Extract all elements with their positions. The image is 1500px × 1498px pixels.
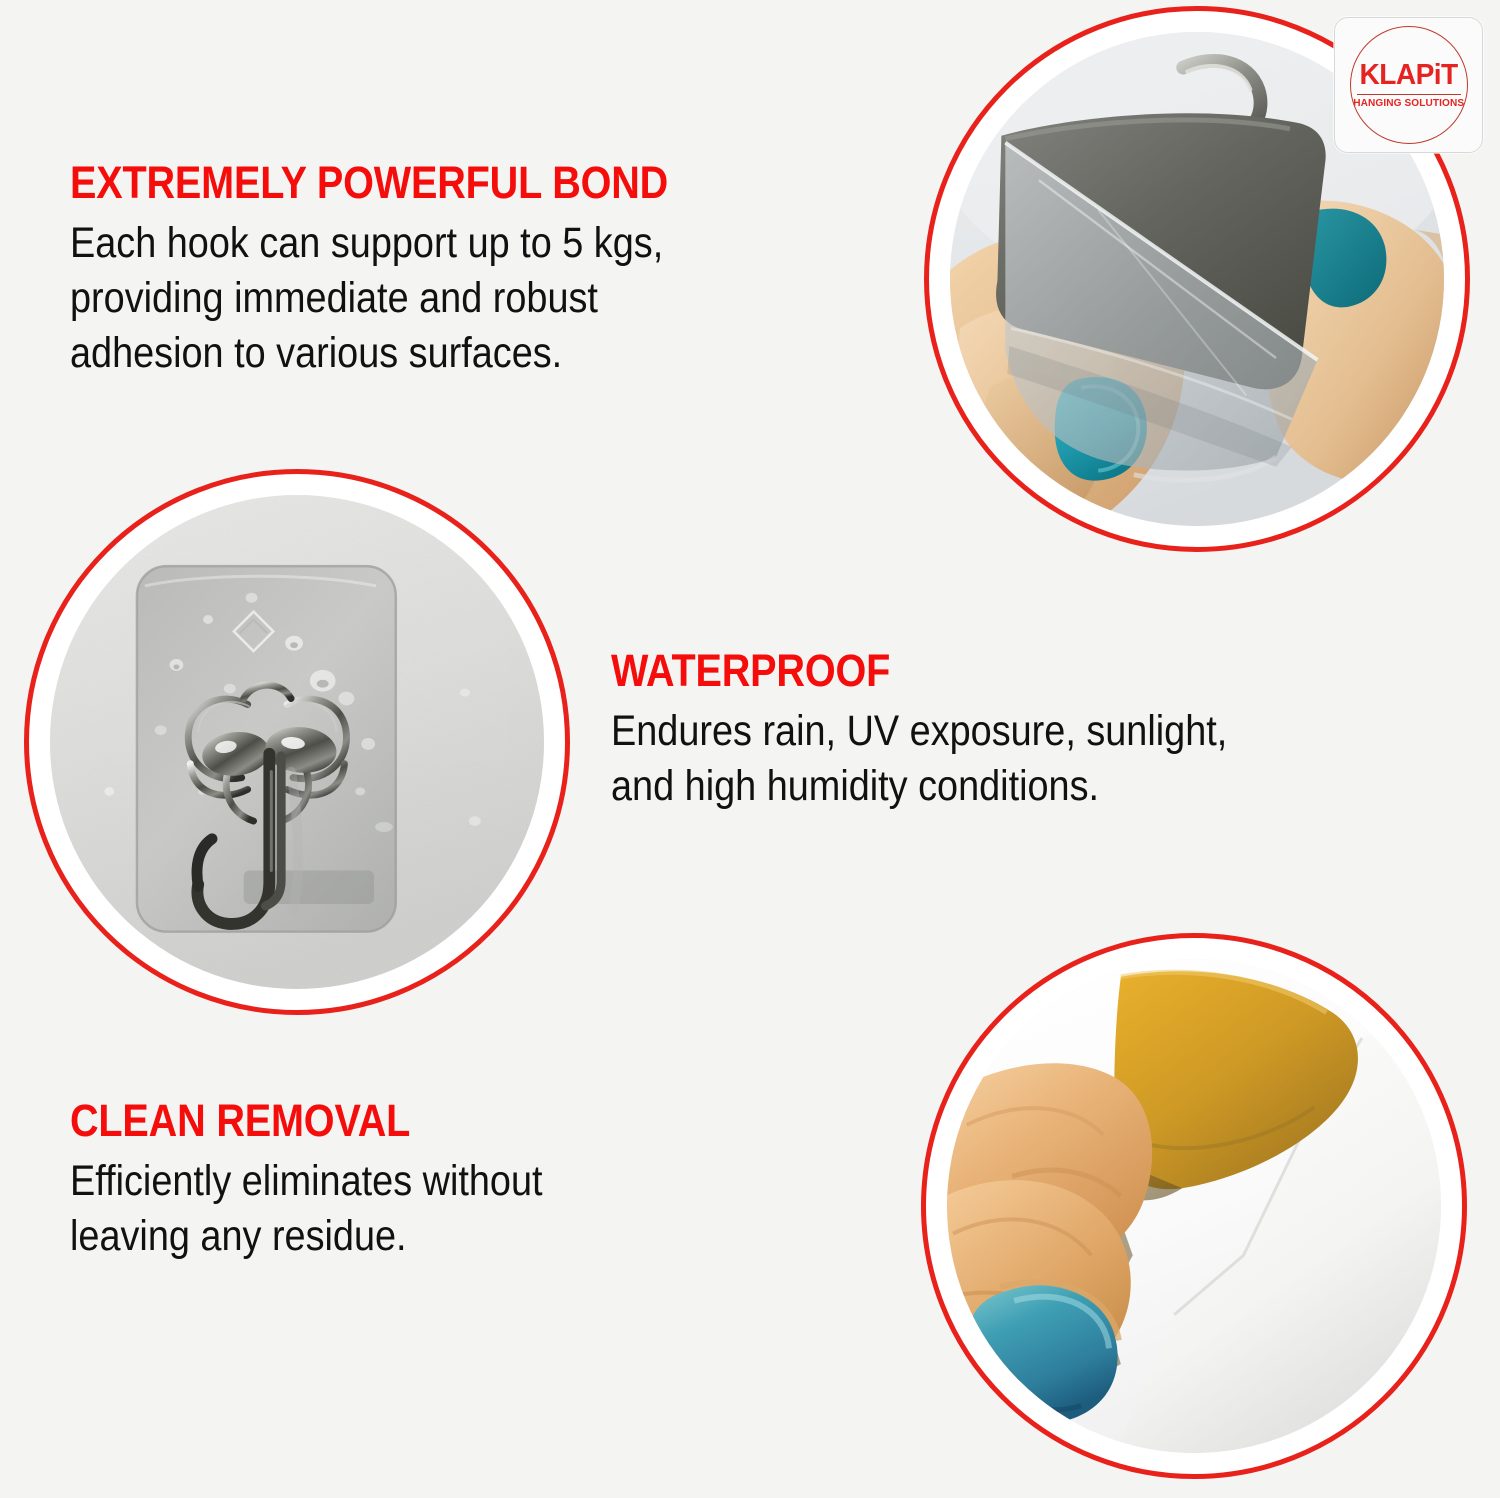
feature-body-waterproof: Endures rain, UV exposure, sunlight, and… (611, 704, 1403, 814)
clean-removal-illustration (947, 959, 1441, 1453)
feature-heading-waterproof: WATERPROOF (611, 648, 1403, 695)
feature-body-line: and high humidity conditions. (611, 759, 1403, 814)
feature-body-extremely-powerful-bond: Each hook can support up to 5 kgs, provi… (70, 216, 932, 381)
wet-hook-on-wall-photo (50, 495, 544, 989)
feature-body-line: leaving any residue. (70, 1209, 792, 1264)
feature-body-line: providing immediate and robust (70, 271, 932, 326)
infographic-canvas: KLAPiT HANGING SOLUTIONS (0, 0, 1500, 1498)
feature-body-line: Endures rain, UV exposure, sunlight, (611, 704, 1403, 759)
feature-body-line: Each hook can support up to 5 kgs, (70, 216, 932, 271)
photo-frame-clean-removal (921, 933, 1467, 1479)
photo-frame-wet-hook (24, 469, 570, 1015)
clean-removal-peel-photo (947, 959, 1441, 1453)
feature-heading-extremely-powerful-bond: EXTREMELY POWERFUL BOND (70, 160, 932, 207)
feature-block-waterproof: WATERPROOF Endures rain, UV exposure, su… (611, 648, 1500, 814)
feature-body-line: adhesion to various surfaces. (70, 326, 932, 381)
feature-block-extremely-powerful-bond: EXTREMELY POWERFUL BOND Each hook can su… (70, 160, 1050, 381)
logo-wordmark: KLAPiT (1359, 61, 1457, 90)
feature-heading-clean-removal: CLEAN REMOVAL (70, 1098, 792, 1145)
feature-body-clean-removal: Efficiently eliminates without leaving a… (70, 1154, 792, 1264)
logo-divider-rule (1357, 94, 1461, 95)
logo-tagline: HANGING SOLUTIONS (1353, 98, 1464, 109)
feature-block-clean-removal: CLEAN REMOVAL Efficiently eliminates wit… (70, 1098, 890, 1264)
wet-hook-illustration (50, 495, 544, 989)
feature-body-line: Efficiently eliminates without (70, 1154, 792, 1209)
logo-circle-outline: KLAPiT HANGING SOLUTIONS (1350, 26, 1468, 144)
klapit-logo-badge: KLAPiT HANGING SOLUTIONS (1334, 17, 1483, 153)
